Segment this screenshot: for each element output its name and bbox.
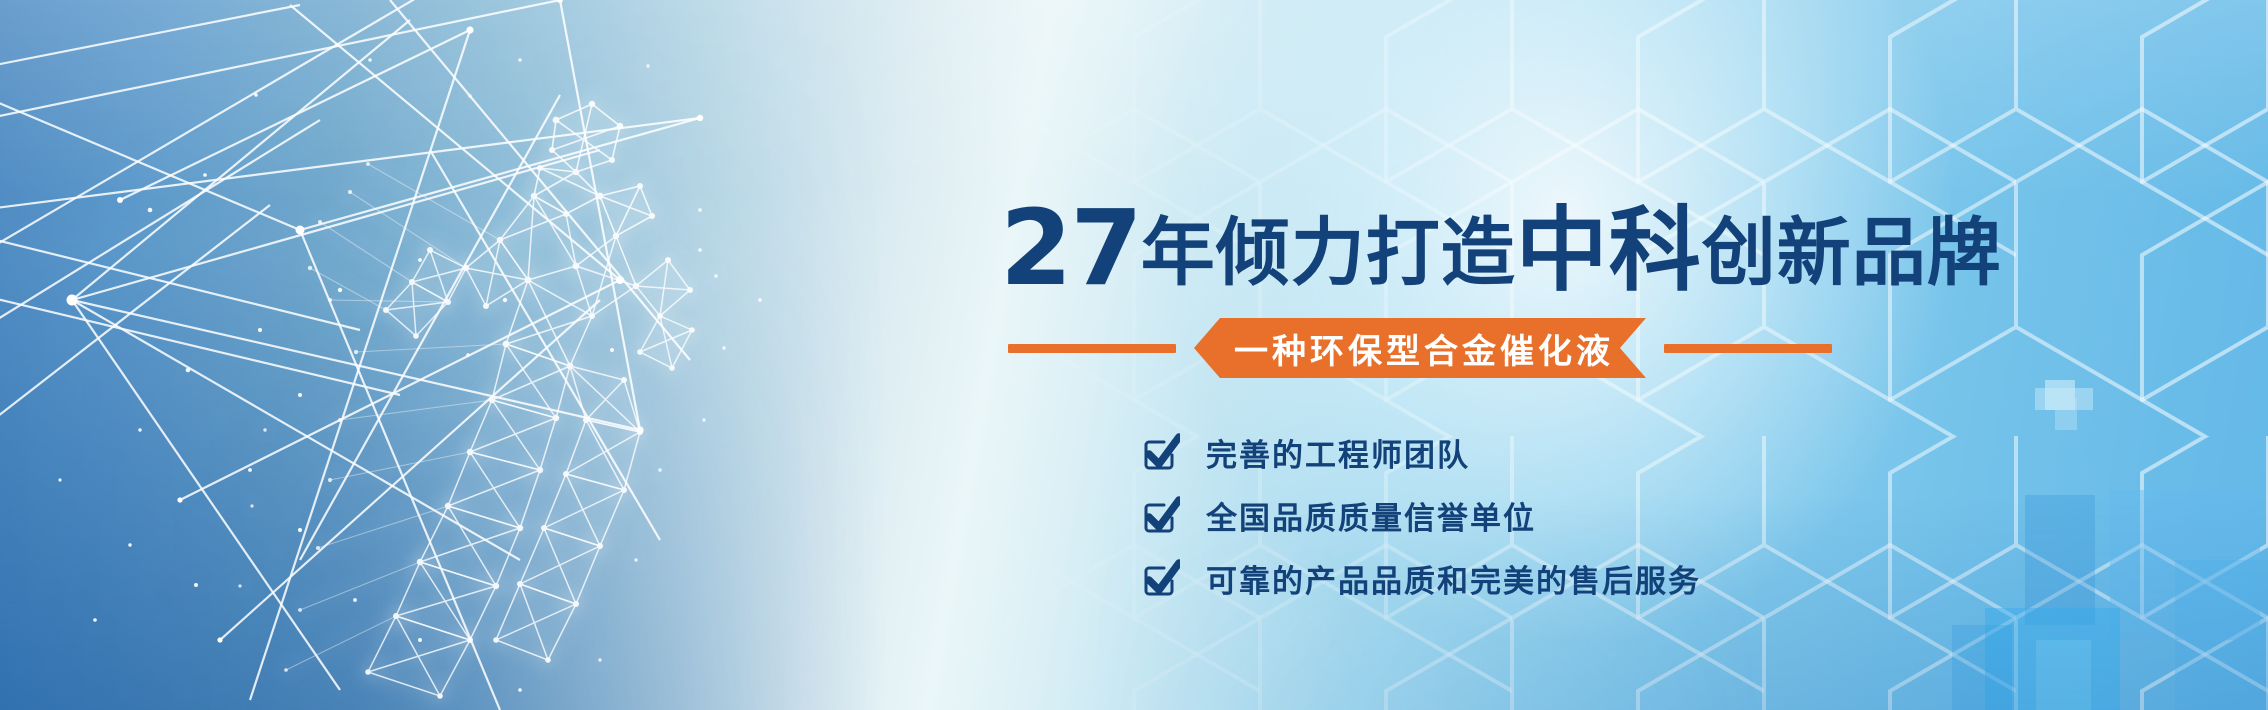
feature-label: 全国品质质量信誉单位 <box>1206 493 1536 538</box>
list-item: 完善的工程师团队 <box>1140 430 1701 475</box>
ribbon-badge-label: 一种环保型合金催化液 <box>1194 318 1646 378</box>
check-box-icon <box>1140 559 1180 599</box>
headline-middle-text: 年倾力打造 <box>1141 210 1516 296</box>
page-title: 27年倾力打造中科创新品牌 <box>1000 196 2002 300</box>
headline-brand-text: 中科 <box>1516 197 1702 304</box>
feature-label: 完善的工程师团队 <box>1206 430 1470 475</box>
ribbon-line-right <box>1664 344 1832 353</box>
headline-tail-text: 创新品牌 <box>1702 210 2002 296</box>
list-item: 可靠的产品品质和完美的售后服务 <box>1140 556 1701 601</box>
banner-content: 27年倾力打造中科创新品牌 一种环保型合金催化液 完善的工程师团队 <box>1000 0 2000 710</box>
feature-list: 完善的工程师团队 全国品质质量信誉单位 可靠的产品品质和完美的售后服务 <box>1140 430 1701 601</box>
subtitle-ribbon: 一种环保型合金催化液 <box>1008 318 1884 378</box>
check-box-icon <box>1140 496 1180 536</box>
feature-label: 可靠的产品品质和完美的售后服务 <box>1206 556 1701 601</box>
ribbon-line-left <box>1008 344 1176 353</box>
check-box-icon <box>1140 433 1180 473</box>
headline-years-number: 27 <box>1000 187 1141 309</box>
hero-banner: 27年倾力打造中科创新品牌 一种环保型合金催化液 完善的工程师团队 <box>0 0 2268 710</box>
list-item: 全国品质质量信誉单位 <box>1140 493 1701 538</box>
